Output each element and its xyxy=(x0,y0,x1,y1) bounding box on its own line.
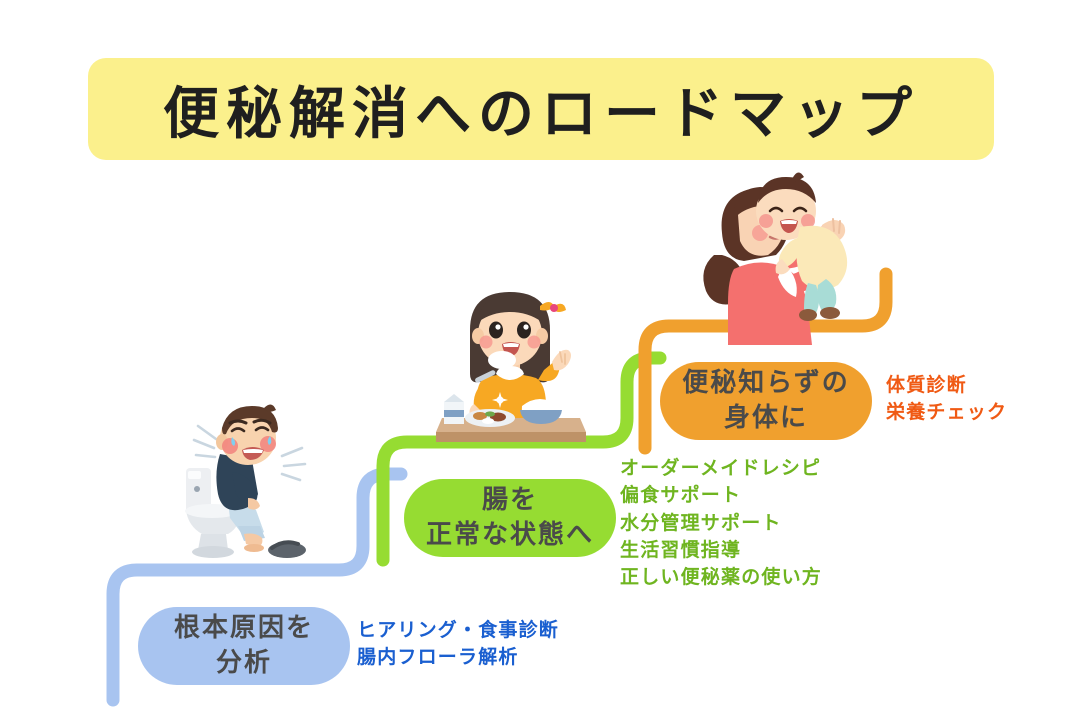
detail-list-analyze: ヒアリング・食事診断腸内フローラ解析 xyxy=(357,617,559,672)
detail-item: オーダーメイドレシピ xyxy=(620,455,822,482)
stage-pill-freedom-line1: 便秘知らずの xyxy=(682,366,849,401)
page-title: 便秘解消へのロードマップ xyxy=(163,69,919,150)
detail-item: 正しい便秘薬の使い方 xyxy=(620,564,822,591)
title-banner: 便秘解消へのロードマップ xyxy=(88,58,994,160)
stage-pill-normalize-line1: 腸を xyxy=(482,483,538,518)
stage-pill-freedom-line2: 身体に xyxy=(724,401,808,436)
detail-item: 腸内フローラ解析 xyxy=(357,644,559,671)
girl-eating-meal-icon xyxy=(428,278,593,450)
stage-pill-freedom[interactable]: 便秘知らずの 身体に xyxy=(660,362,872,440)
detail-item: 生活習慣指導 xyxy=(620,537,822,564)
detail-list-freedom: 体質診断栄養チェック xyxy=(886,372,1007,427)
child-straining-on-toilet-icon xyxy=(172,398,322,580)
stage-pill-analyze-line2: 分析 xyxy=(216,646,272,681)
mother-lifting-baby-icon xyxy=(688,163,870,345)
stage-pill-normalize[interactable]: 腸を 正常な状態へ xyxy=(404,479,616,557)
detail-item: 体質診断 xyxy=(886,372,1007,399)
detail-item: ヒアリング・食事診断 xyxy=(357,617,559,644)
detail-item: 水分管理サポート xyxy=(620,510,822,537)
stage-pill-normalize-line2: 正常な状態へ xyxy=(426,518,594,553)
detail-item: 偏食サポート xyxy=(620,482,822,509)
stage-pill-analyze-line1: 根本原因を xyxy=(174,611,314,646)
stage-pill-analyze[interactable]: 根本原因を 分析 xyxy=(138,607,350,685)
detail-list-normalize: オーダーメイドレシピ偏食サポート水分管理サポート生活習慣指導正しい便秘薬の使い方 xyxy=(620,455,822,592)
detail-item: 栄養チェック xyxy=(886,399,1007,426)
